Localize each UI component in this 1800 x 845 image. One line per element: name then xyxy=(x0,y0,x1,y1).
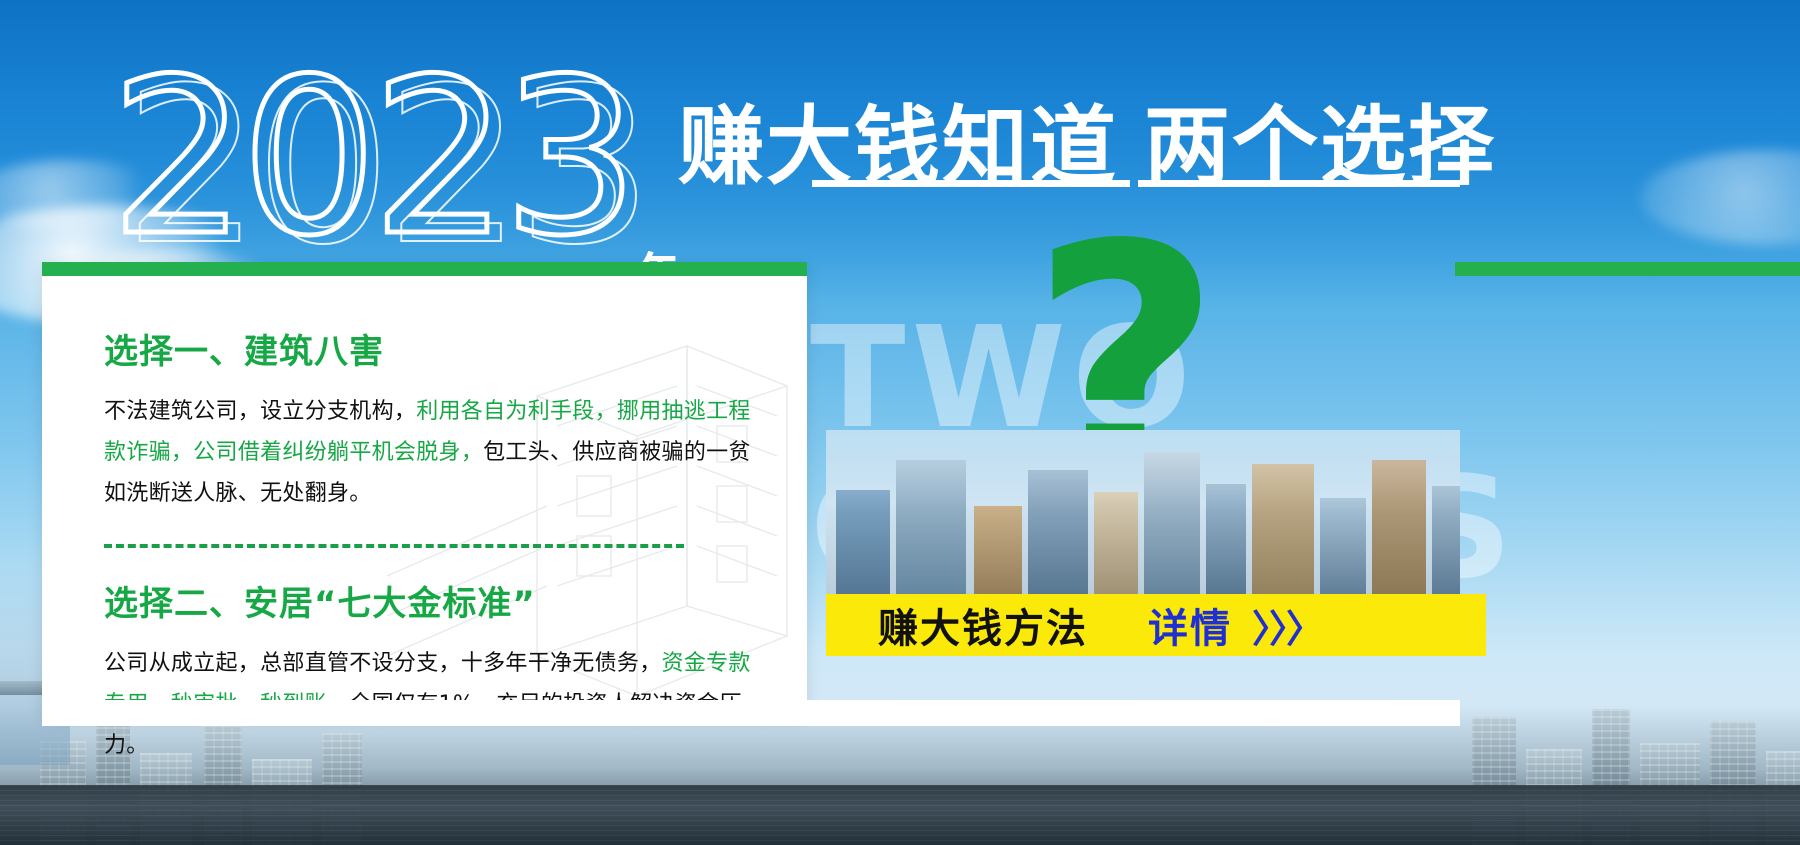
cta-bar[interactable]: 赚大钱方法 详情 〉〉〉 xyxy=(826,594,1486,656)
year-inner-outline: 2023 xyxy=(124,67,647,267)
card-top-accent-bar xyxy=(42,262,807,276)
cta-main-label: 赚大钱方法 xyxy=(878,596,1088,654)
chevron-right-icon: 〉〉〉 xyxy=(1252,598,1322,653)
card-content: 选择一、建筑八害 不法建筑公司，设立分支机构，利用各自为利手段，挪用抽逃工程款诈… xyxy=(42,276,807,717)
section-1-title: 选择一、建筑八害 xyxy=(104,324,767,373)
water-reflection xyxy=(0,785,1800,845)
s1-line1-black: 不法建筑公司，设立分支机构， xyxy=(104,399,416,424)
s1-line2-green: 诈骗，公司借着纠纷躺平机会脱身， xyxy=(126,440,483,465)
green-accent-bar-right xyxy=(1455,262,1800,276)
section-2-title: 选择二、安居“七大金标准” xyxy=(104,576,767,625)
city-photo xyxy=(826,430,1460,610)
card-bottom-white-bar xyxy=(42,700,1460,726)
right-panel: TWO CHOICES ? 赚大钱方法 详情 〉〉〉 xyxy=(812,186,1460,674)
section-1-body: 不法建筑公司，设立分支机构，利用各自为利手段，挪用抽逃工程款诈骗，公司借着纠纷躺… xyxy=(104,391,767,514)
s1-line3-black: 断送人脉、无处翻身。 xyxy=(149,481,372,506)
banner-stage: 2023 2023 年 赚大钱知道两个选择 TWO CHOICES ? xyxy=(0,0,1800,845)
year-graphic: 2023 2023 年 xyxy=(110,58,730,273)
section-divider xyxy=(104,544,684,548)
info-card: 选择一、建筑八害 不法建筑公司，设立分支机构，利用各自为利手段，挪用抽逃工程款诈… xyxy=(42,262,807,717)
cta-detail-link[interactable]: 详情 xyxy=(1148,596,1232,654)
s2-line1-black: 公司从成立起，总部直管不设分支，十多年干净无债务， xyxy=(104,651,662,676)
